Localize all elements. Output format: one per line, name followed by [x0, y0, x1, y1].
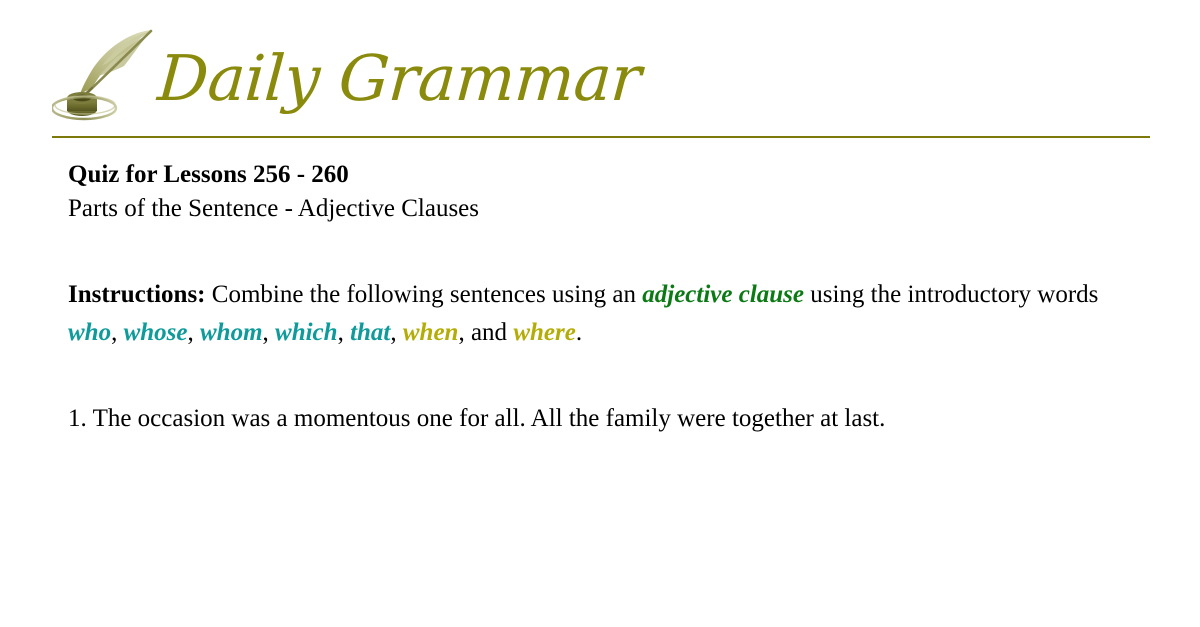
question-text: The occasion was a momentous one for all… — [93, 405, 886, 432]
instructions-keyword-whom: whom — [200, 319, 263, 346]
instructions-label: Instructions: — [68, 281, 206, 308]
instructions-keyword-that: that — [350, 319, 390, 346]
question-item: 1. The occasion was a momentous one for … — [68, 400, 1113, 438]
header-divider — [52, 136, 1150, 138]
instructions-keyword-who: who — [68, 319, 111, 346]
instructions-keyword-when: when — [403, 319, 459, 346]
question-number: 1. — [68, 405, 87, 432]
quill-inkwell-icon — [52, 26, 164, 126]
instructions-keyword-separator: , — [390, 319, 403, 346]
site-logo-text: Daily Grammar — [156, 47, 643, 110]
instructions-keyword-separator: , — [338, 319, 351, 346]
instructions-keyword-separator: , — [263, 319, 276, 346]
site-logo[interactable]: Daily Grammar — [52, 18, 641, 126]
quiz-subtitle: Parts of the Sentence - Adjective Clause… — [68, 192, 1128, 226]
instructions-keyword-separator: , — [188, 319, 201, 346]
instructions-keyword-which: which — [275, 319, 338, 346]
instructions-paragraph: Instructions: Combine the following sent… — [68, 226, 1113, 352]
quiz-content: Quiz for Lessons 256 - 260 Parts of the … — [68, 158, 1128, 438]
instructions-keyword-where: where — [513, 319, 576, 346]
quiz-title: Quiz for Lessons 256 - 260 — [68, 158, 1128, 192]
instructions-keyword-whose: whose — [124, 319, 188, 346]
instructions-keyword-list: who, whose, whom, which, that, when, and… — [68, 319, 582, 346]
instructions-text-before: Combine the following sentences using an — [206, 281, 643, 308]
instructions-keyword-separator: , and — [458, 319, 513, 346]
questions-list: 1. The occasion was a momentous one for … — [68, 352, 1113, 438]
instructions-text-middle: using the introductory words — [804, 281, 1098, 308]
instructions-keyword-separator: , — [111, 319, 124, 346]
page: Daily Grammar Quiz for Lessons 256 - 260… — [0, 0, 1200, 627]
site-header: Daily Grammar — [0, 0, 1200, 140]
instructions-highlight-adjective-clause: adjective clause — [642, 281, 804, 308]
instructions-keyword-separator: . — [576, 319, 582, 346]
